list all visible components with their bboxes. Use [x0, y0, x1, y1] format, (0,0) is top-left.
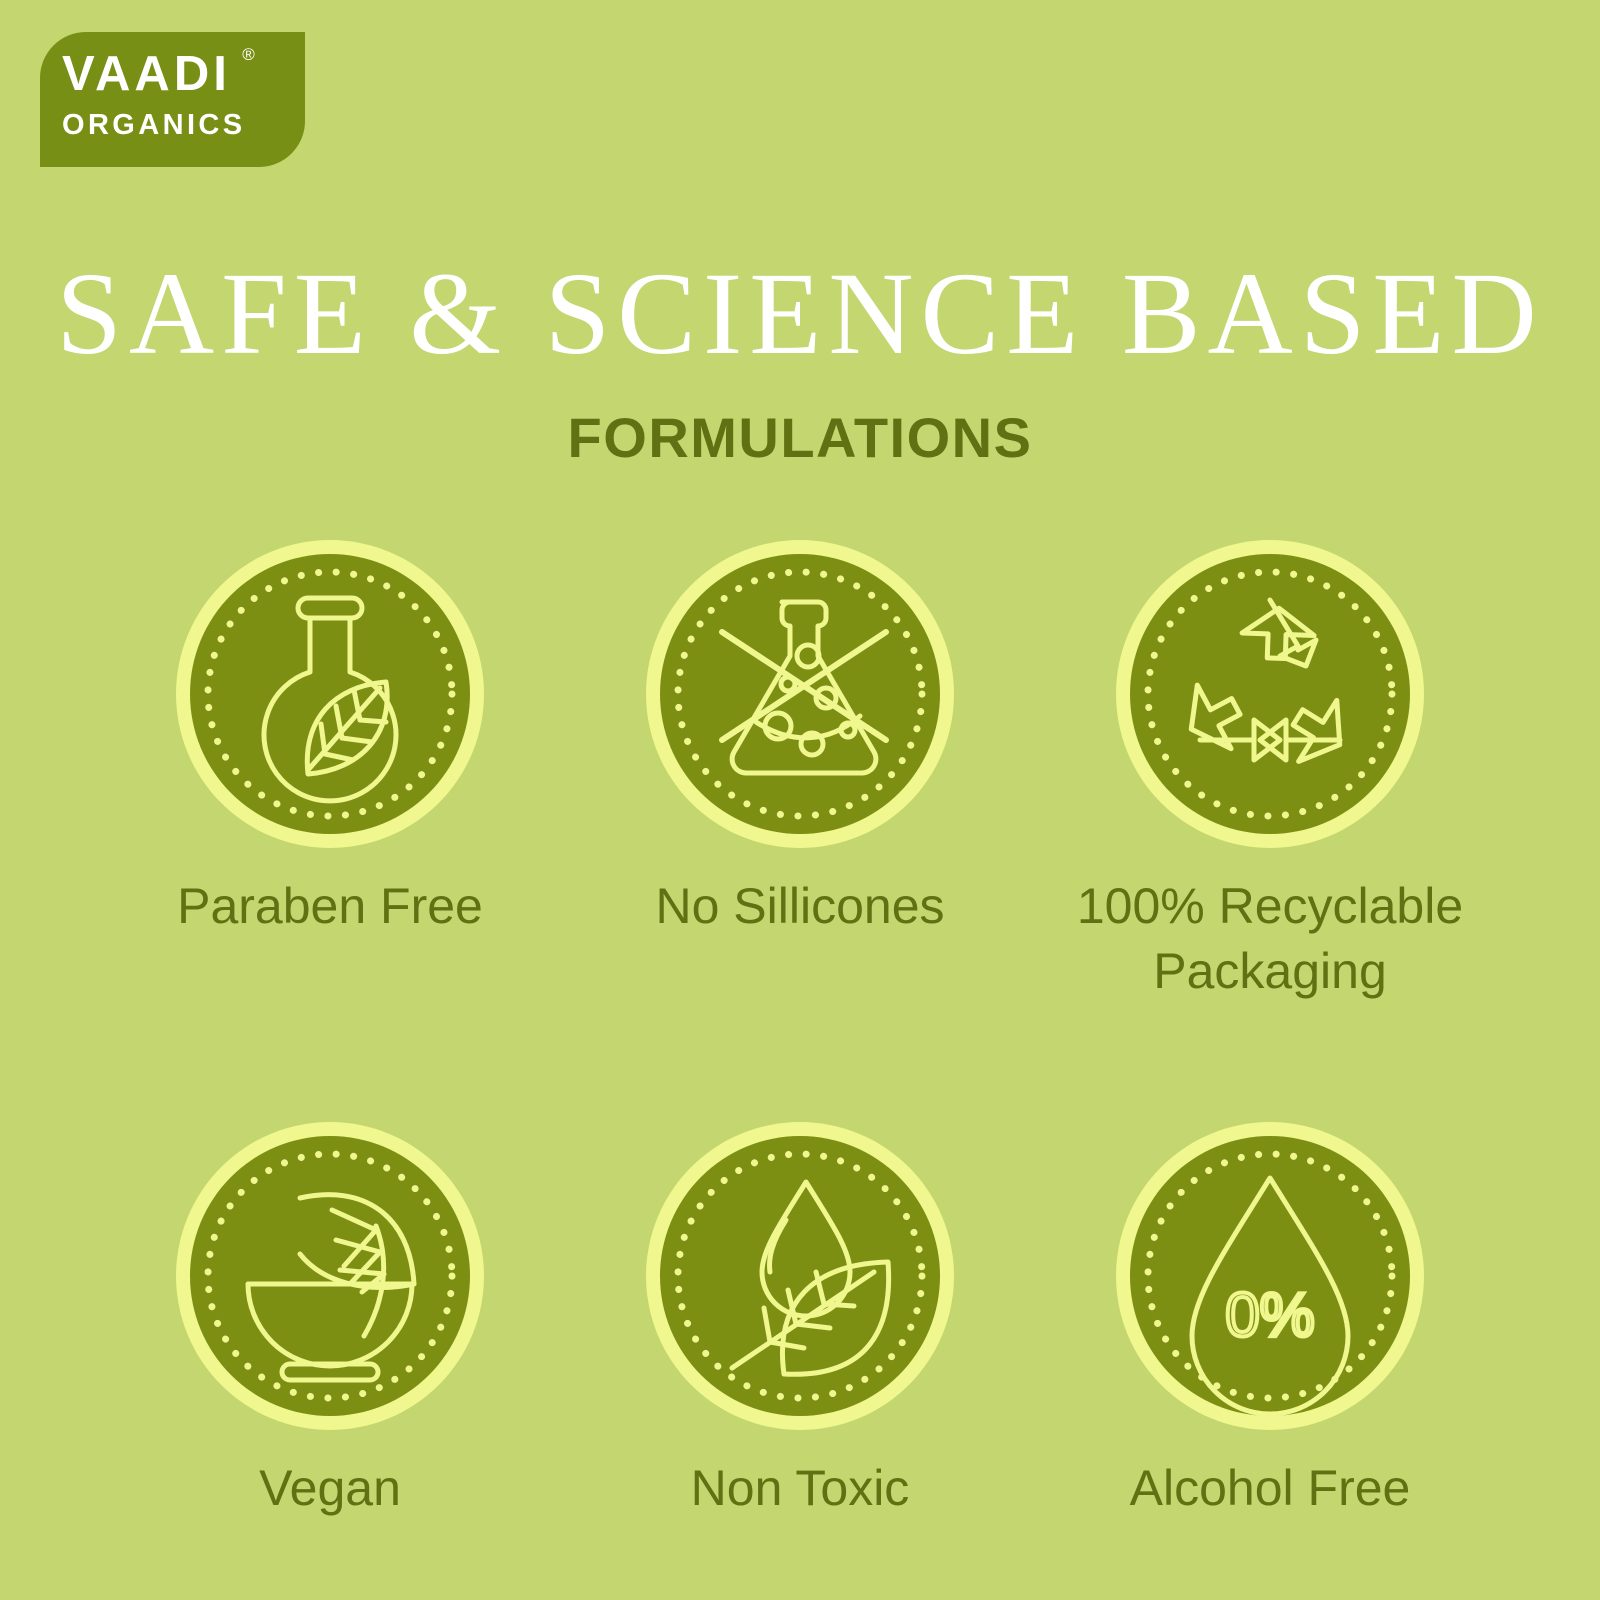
brand-tagline: ORGANICS [62, 111, 305, 140]
brand-name: VAADI® [62, 50, 231, 99]
feature-label: 100% Recyclable Packaging [1060, 874, 1480, 1004]
registered-trademark-icon: ® [242, 46, 255, 63]
flask-leaf-icon [190, 554, 470, 834]
feature-badge [1116, 540, 1424, 848]
feature-badge [176, 1122, 484, 1430]
bowl-leaf-icon [190, 1136, 470, 1416]
feature-grid: Paraben Free [95, 540, 1505, 1521]
feature-item: Non Toxic [565, 1122, 1035, 1521]
feature-label: Non Toxic [691, 1456, 910, 1521]
feature-item: Vegan [95, 1122, 565, 1521]
recycle-icon [1130, 554, 1410, 834]
feature-item: No Sillicones [565, 540, 1035, 1004]
feature-badge [176, 540, 484, 848]
feature-item: 100% Recyclable Packaging [1035, 540, 1505, 1004]
feature-label: Paraben Free [177, 874, 483, 939]
feature-label: No Sillicones [655, 874, 944, 939]
page-headline: SAFE & SCIENCE BASED [0, 252, 1600, 376]
droplet-leaf-icon [660, 1136, 940, 1416]
feature-label: Vegan [259, 1456, 401, 1521]
feature-badge [646, 540, 954, 848]
feature-badge: 0% [1116, 1122, 1424, 1430]
feature-badge [646, 1122, 954, 1430]
brand-name-text: VAADI [62, 47, 231, 101]
feature-item: Paraben Free [95, 540, 565, 1004]
droplet-zero-percent-icon: 0% [1130, 1136, 1410, 1416]
page-subheadline: FORMULATIONS [0, 405, 1600, 470]
no-silicones-flask-icon [660, 554, 940, 834]
brand-logo: VAADI® ORGANICS [40, 32, 305, 167]
feature-item: 0% Alcohol Free [1035, 1122, 1505, 1521]
feature-label: Alcohol Free [1130, 1456, 1411, 1521]
badge-value-text: 0% [1225, 1281, 1315, 1350]
